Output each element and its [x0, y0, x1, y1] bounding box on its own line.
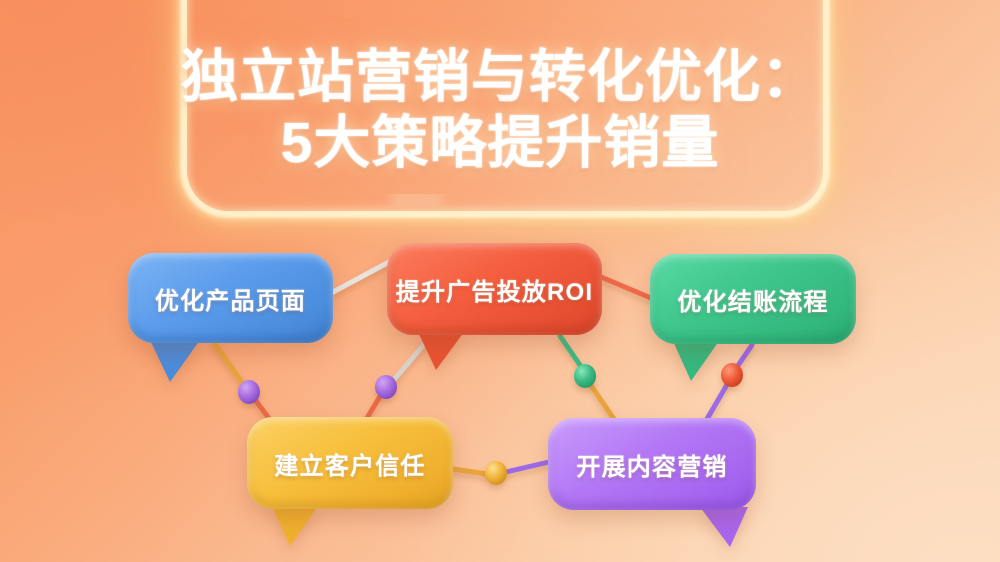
- link-node-purple-mid: [375, 375, 397, 399]
- slide-canvas: 独立站营销与转化优化： 5大策略提升销量: [0, 0, 1000, 562]
- link-ads-content: [560, 336, 582, 368]
- link-trust-content: [453, 469, 487, 474]
- bubble-improve-ad-roi[interactable]: 提升广告投放ROI: [387, 243, 602, 335]
- page-title: 独立站营销与转化优化： 5大策略提升销量: [0, 44, 1000, 176]
- link-node-yellow: [485, 461, 507, 485]
- bubble-label-trust: 建立客户信任: [274, 446, 425, 481]
- link-node-green: [574, 364, 596, 388]
- bubble-build-customer-trust[interactable]: 建立客户信任: [247, 417, 453, 509]
- bubble-tail-trust: [272, 506, 318, 546]
- bubble-tail-content: [700, 507, 748, 547]
- bubble-content-marketing[interactable]: 开展内容营销: [548, 418, 756, 510]
- link-ads-content-lower: [590, 384, 614, 419]
- bubble-tail-checkout: [673, 341, 719, 381]
- bubble-optimize-checkout[interactable]: 优化结账流程: [650, 254, 856, 344]
- link-node-purple-left: [238, 380, 260, 404]
- link-node-red: [721, 363, 743, 387]
- neon-frame-icon: [182, 0, 828, 216]
- link-product-trust: [214, 343, 247, 389]
- bubble-label-product: 优化产品页面: [155, 281, 306, 316]
- bubble-label-checkout: 优化结账流程: [677, 282, 828, 317]
- bubble-label-content: 开展内容营销: [576, 447, 727, 482]
- neon-frame-gap: [384, 194, 450, 208]
- bubble-tail-product: [150, 340, 200, 382]
- bubble-label-ads: 提升广告投放ROI: [396, 272, 593, 307]
- link-trust-content-right: [506, 462, 549, 472]
- link-ads-checkout: [601, 277, 651, 298]
- link-checkout-content-lower: [707, 383, 728, 419]
- bubble-tail-ads: [418, 332, 464, 370]
- title-line-2: 5大策略提升销量: [0, 110, 1000, 176]
- bubble-optimize-product-page[interactable]: 优化产品页面: [128, 253, 333, 343]
- link-product-ads: [333, 262, 389, 292]
- title-line-1: 独立站营销与转化优化：: [0, 44, 1000, 110]
- link-checkout-content: [737, 345, 752, 367]
